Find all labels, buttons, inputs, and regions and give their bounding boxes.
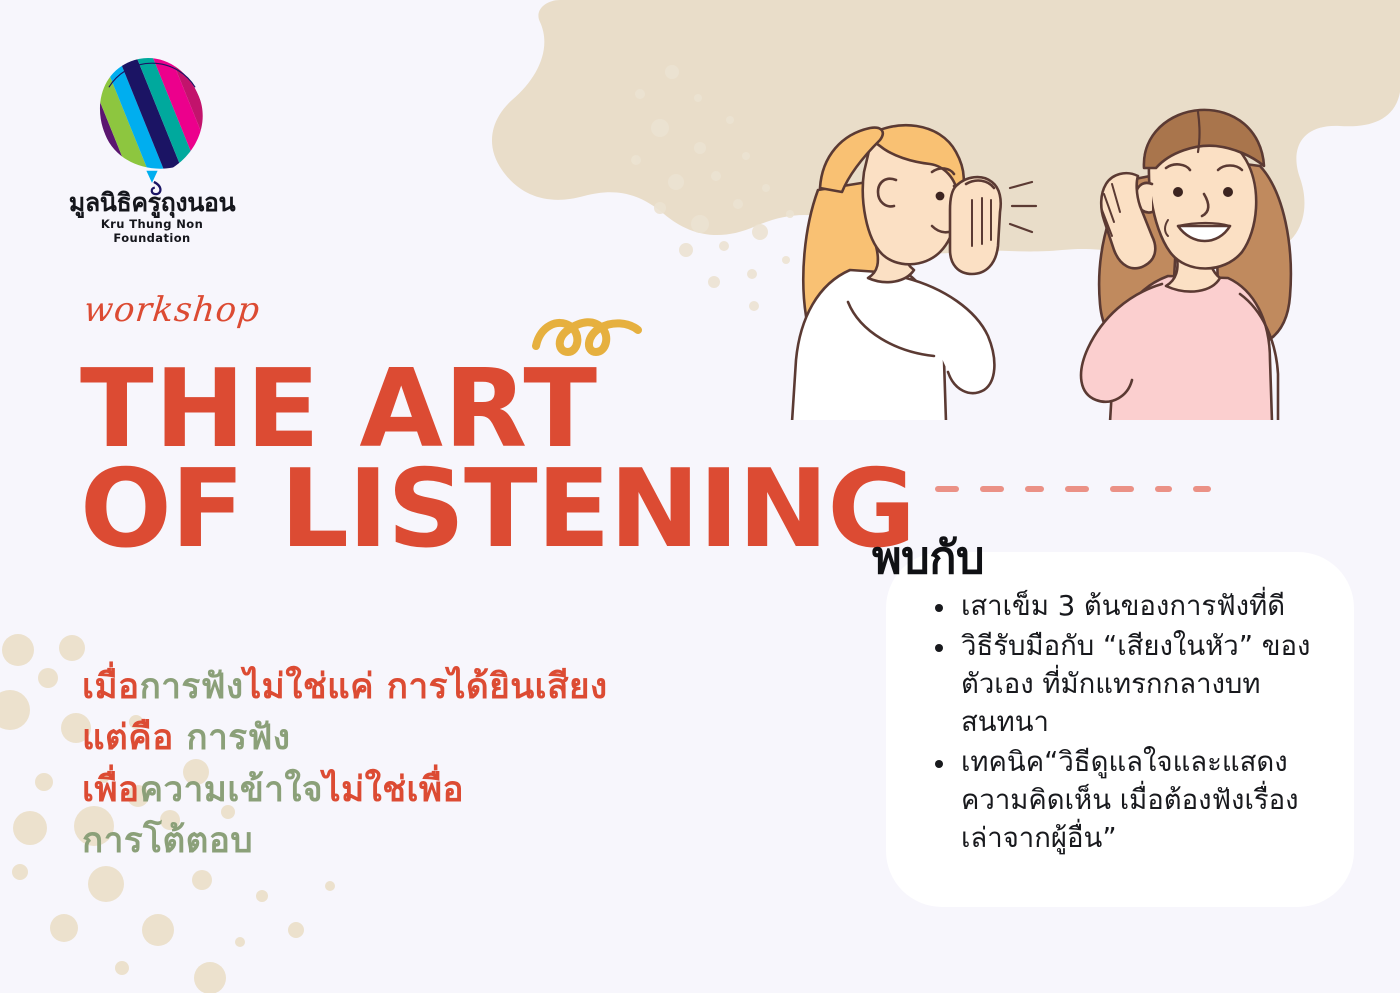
eyebrow-workshop: workshop [82,290,262,330]
list-item: วิธีรับมือกับ “เสียงในหัว” ของตัวเอง ที่… [925,628,1325,742]
dash-2 [980,486,1004,492]
balloon-logo-icon [77,46,227,196]
dash-4 [1065,486,1089,492]
tagline-3c: ไม่ใช่เพื่อ [323,770,464,810]
tagline-1b: การฟัง [140,667,244,707]
title-line-1: THE ART [80,360,915,460]
panel-bullet-list: เสาเข็ม 3 ต้นของการฟังที่ดี วิธีรับมือกั… [925,588,1325,860]
page-title: THE ART OF LISTENING [80,360,915,561]
tagline-3b: ความเข้าใจ [140,770,323,810]
list-item: เสาเข็ม 3 ต้นของการฟังที่ดี [925,588,1325,626]
tagline-1c: ไม่ใช่แค่ การได้ยินเสียง [244,667,608,707]
tagline-row-4: การโต้ตอบ [82,816,608,867]
panel-heading: พบกับ [872,521,984,593]
dash-1 [935,486,959,492]
logo-english-name: Kru Thung Non Foundation [62,217,242,245]
tagline-row-1: เมื่อการฟังไม่ใช่แค่ การได้ยินเสียง [82,662,608,713]
tagline-1a: เมื่อ [82,667,140,707]
dash-6 [1155,486,1172,492]
dashed-divider [935,486,1211,492]
tagline-4b: การโต้ตอบ [82,821,253,861]
thai-tagline: เมื่อการฟังไม่ใช่แค่ การได้ยินเสียง แต่ค… [82,662,608,868]
tagline-2a: แต่คือ [82,718,186,758]
title-line-2: OF LISTENING [80,460,915,560]
tagline-3a: เพื่อ [82,770,140,810]
tagline-row-2: แต่คือ การฟัง [82,713,608,764]
dash-3 [1025,486,1044,492]
list-item: เทคนิค“วิธีดูแลใจและแสดงความคิดเห็น เมื่… [925,744,1325,858]
logo-thai-name: มูลนิธิครูถุงนอน [62,190,242,216]
dash-5 [1110,486,1134,492]
foundation-logo: มูลนิธิครูถุงนอน Kru Thung Non Foundatio… [62,46,242,245]
dash-7 [1193,486,1211,492]
tagline-2b: การฟัง [186,718,290,758]
tagline-row-3: เพื่อความเข้าใจไม่ใช่เพื่อ [82,765,608,816]
poster-canvas: มูลนิธิครูถุงนอน Kru Thung Non Foundatio… [0,0,1400,993]
